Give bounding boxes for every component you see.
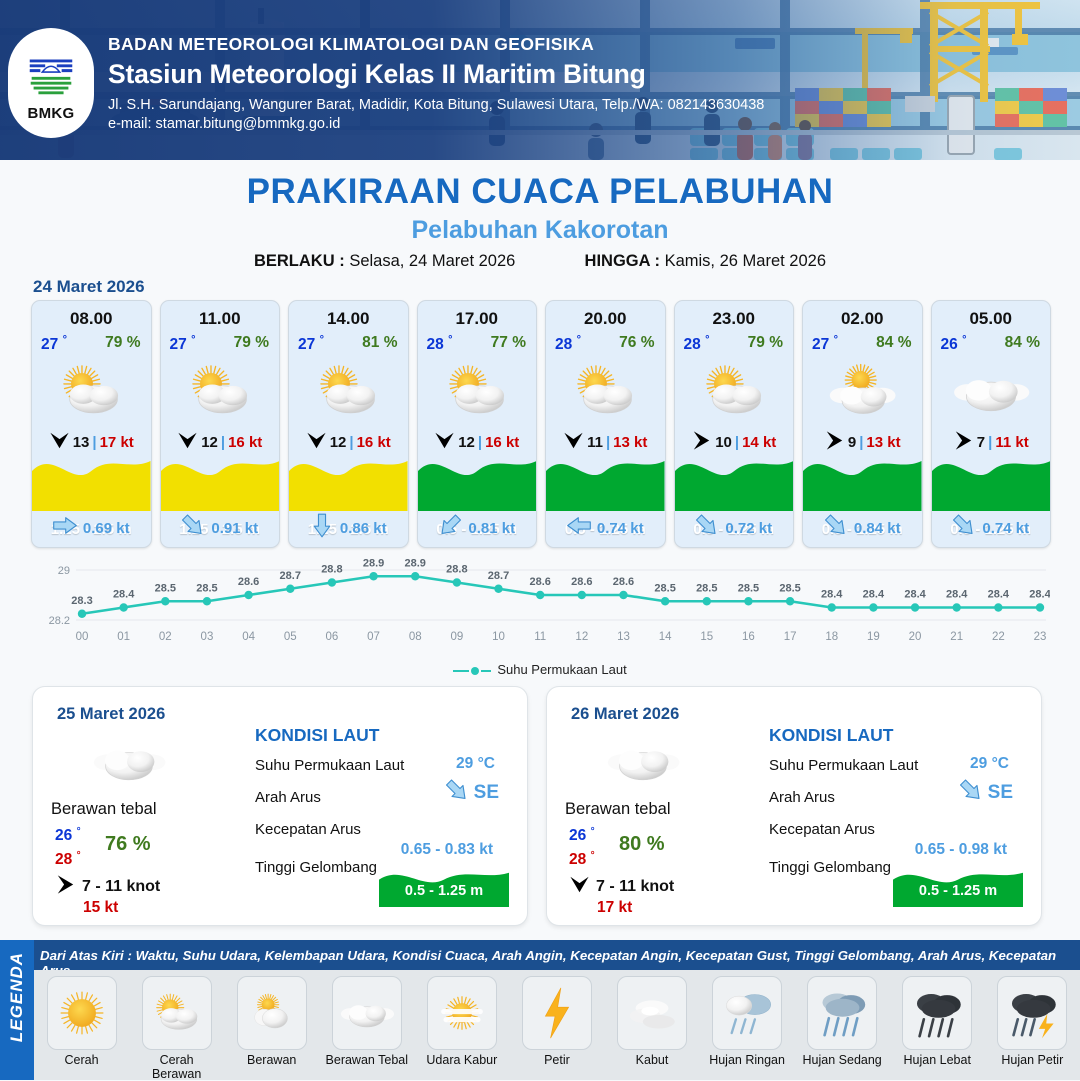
sea-conditions-title: KONDISI LAUT — [255, 725, 379, 746]
legend-item: Hujan Lebat — [895, 976, 979, 1067]
svg-text:28.4: 28.4 — [821, 589, 843, 601]
current-speed-label: Kecepatan Arus — [769, 821, 875, 838]
daily-temp-min: 26 ° — [55, 826, 81, 845]
legend-item-label: Hujan Petir — [990, 1053, 1074, 1067]
legend-rain-thunder-icon — [997, 976, 1067, 1050]
card-weather-sun-cloud-icon — [418, 359, 537, 423]
page-title: PRAKIRAAN CUACA PELABUHAN — [0, 172, 1080, 212]
card-humidity: 84 % — [876, 334, 911, 352]
card-wave-graphic — [161, 441, 280, 511]
card-weather-sun-clouds-icon — [803, 359, 922, 423]
svg-text:08: 08 — [409, 631, 422, 643]
current-direction-label: Arah Arus — [255, 789, 321, 806]
forecast-card: 02.00 27 ° 84 % 9 | 13 kt 0.5 - 1.25 m — [802, 300, 923, 548]
svg-text:28.6: 28.6 — [571, 576, 592, 588]
card-temperature: 26 ° — [941, 334, 967, 354]
valid-until-label: HINGGA : — [585, 252, 660, 270]
card-wave-graphic — [289, 441, 408, 511]
card-time: 23.00 — [675, 309, 794, 329]
svg-text:28.5: 28.5 — [654, 582, 675, 594]
current-direction-arrow-icon — [824, 516, 848, 540]
agency-name: BADAN METEOROLOGI KLIMATOLOGI DAN GEOFIS… — [108, 34, 764, 55]
card-time: 02.00 — [803, 309, 922, 329]
legend-item: Hujan Ringan — [705, 976, 789, 1067]
current-direction-value-row: SE — [959, 781, 1013, 805]
svg-text:04: 04 — [242, 631, 255, 643]
legend-section: LEGENDA Dari Atas Kiri : Waktu, Suhu Uda… — [0, 940, 1080, 1080]
daily-wave-value: 0.5 - 1.25 m — [379, 883, 509, 899]
card-time: 05.00 — [932, 309, 1051, 329]
card-weather-clouds-icon — [932, 359, 1051, 423]
card-humidity: 76 % — [619, 334, 654, 352]
svg-text:19: 19 — [867, 631, 880, 643]
svg-text:28.4: 28.4 — [1029, 589, 1050, 601]
svg-text:28.5: 28.5 — [738, 582, 759, 594]
sst-value: 29 °C — [970, 755, 1009, 773]
daily-gust: 15 kt — [83, 899, 118, 917]
legend-items-row: Cerah Cerah Berawan Berawan — [34, 972, 1080, 1080]
valid-from-label: BERLAKU : — [254, 252, 345, 270]
legend-item-label: Hujan Lebat — [895, 1053, 979, 1067]
legend-item: Hujan Petir — [990, 976, 1074, 1067]
legend-line-left — [453, 670, 469, 672]
forecast-card: 05.00 26 ° 84 % 7 | 11 kt 0.5 - 1.25 m — [931, 300, 1052, 548]
valid-from-value: Selasa, 24 Maret 2026 — [349, 252, 515, 270]
valid-until-value: Kamis, 26 Maret 2026 — [665, 252, 826, 270]
card-current-speed: 0.69 kt — [83, 520, 130, 537]
sst-chart: 2928.228.30028.40128.50228.50328.60428.7… — [30, 558, 1050, 678]
forecast-card: 23.00 28 ° 79 % 10 | 14 kt 0.5 - 1.25 m — [674, 300, 795, 548]
card-current-row: 0.91 kt — [161, 513, 280, 543]
hourly-forecast-row: 08.00 27 ° 79 % 13 | 17 kt 1.25 - 2.5 m — [31, 300, 1051, 548]
svg-text:28.8: 28.8 — [321, 564, 342, 576]
current-direction-arrow-icon — [53, 516, 77, 540]
card-humidity: 79 % — [234, 334, 269, 352]
card-temperature: 28 ° — [555, 334, 581, 354]
svg-text:28.4: 28.4 — [904, 589, 926, 601]
daily-temp-max: 28 ° — [55, 850, 81, 869]
daily-humidity: 80 % — [619, 833, 665, 856]
card-humidity: 84 % — [1005, 334, 1040, 352]
legend-item: Udara Kabur — [420, 976, 504, 1067]
card-time: 20.00 — [546, 309, 665, 329]
current-direction-arrow-icon — [438, 516, 462, 540]
station-address: Jl. S.H. Sarundajang, Wangurer Barat, Ma… — [108, 97, 764, 113]
current-direction-label: Arah Arus — [769, 789, 835, 806]
daily-wind-direction-arrow-icon — [55, 875, 76, 899]
page-header: BMKG BADAN METEOROLOGI KLIMATOLOGI DAN G… — [0, 0, 1080, 160]
card-weather-sun-cloud-icon — [675, 359, 794, 423]
card-humidity: 77 % — [491, 334, 526, 352]
station-email: e-mail: stamar.bitung@bmmkg.go.id — [108, 116, 764, 132]
legend-item: Cerah Berawan — [135, 976, 219, 1081]
card-current-speed: 0.74 kt — [597, 520, 644, 537]
daily-wind-direction-arrow-icon — [569, 875, 590, 899]
daily-date: 25 Maret 2026 — [57, 705, 165, 724]
legend-item-label: Berawan — [230, 1053, 314, 1067]
svg-text:28.5: 28.5 — [196, 582, 217, 594]
sst-value: 29 °C — [456, 755, 495, 773]
card-wave-graphic — [803, 441, 922, 511]
legend-rain-heavy-icon — [902, 976, 972, 1050]
svg-text:17: 17 — [784, 631, 797, 643]
current-direction-value: SE — [474, 782, 499, 804]
svg-text:28.6: 28.6 — [613, 576, 634, 588]
svg-text:29: 29 — [58, 565, 70, 577]
card-wave-graphic — [932, 441, 1051, 511]
daily-weather-cloud-icon — [87, 735, 171, 787]
bmkg-logo-text: BMKG — [27, 105, 74, 122]
card-time: 14.00 — [289, 309, 408, 329]
card-current-speed: 0.84 kt — [854, 520, 901, 537]
daily-forecast-panel-26: 26 Maret 2026 Berawan tebal 26 ° 28 ° 80… — [546, 686, 1042, 926]
legend-haze-icon — [427, 976, 497, 1050]
forecast-date-label: 24 Maret 2026 — [33, 277, 145, 297]
current-speed-value: 0.65 - 0.83 kt — [401, 841, 493, 859]
card-current-speed: 0.86 kt — [340, 520, 387, 537]
header-text-block: BADAN METEOROLOGI KLIMATOLOGI DAN GEOFIS… — [108, 34, 764, 132]
card-temperature: 27 ° — [298, 334, 324, 354]
card-time: 11.00 — [161, 309, 280, 329]
sst-label: Suhu Permukaan Laut — [255, 757, 404, 774]
page-subtitle: Pelabuhan Kakorotan — [0, 216, 1080, 245]
legend-marker — [471, 667, 479, 675]
bmkg-logo-icon — [22, 45, 80, 103]
forecast-card: 20.00 28 ° 76 % 11 | 13 kt 0.5 - 1.25 m — [545, 300, 666, 548]
legend-side-label: LEGENDA — [7, 947, 27, 1047]
svg-text:28.6: 28.6 — [529, 576, 550, 588]
current-direction-value-row: SE — [445, 781, 499, 805]
card-wave-graphic — [32, 441, 151, 511]
svg-text:28.3: 28.3 — [71, 595, 92, 607]
svg-text:05: 05 — [284, 631, 297, 643]
svg-text:28.5: 28.5 — [155, 582, 176, 594]
wave-height-label: Tinggi Gelombang — [769, 859, 891, 876]
card-temperature: 28 ° — [427, 334, 453, 354]
card-temperature: 27 ° — [41, 334, 67, 354]
forecast-card: 14.00 27 ° 81 % 12 | 16 kt 1.25 - 2.5 m — [288, 300, 409, 548]
svg-text:28.4: 28.4 — [113, 589, 135, 601]
legend-rain-light-icon — [712, 976, 782, 1050]
card-weather-sun-cloud-icon — [289, 359, 408, 423]
legend-item-label: Hujan Sedang — [800, 1053, 884, 1067]
daily-forecast-panel-25: 25 Maret 2026 Berawan tebal 26 ° 28 ° 76… — [32, 686, 528, 926]
daily-wind-row: 7 - 11 knot — [55, 875, 160, 899]
card-weather-sun-cloud-icon — [32, 359, 151, 423]
daily-condition: Berawan tebal — [51, 800, 157, 819]
daily-current-arrow-icon — [445, 781, 469, 805]
sst-label: Suhu Permukaan Laut — [769, 757, 918, 774]
current-direction-arrow-icon — [952, 516, 976, 540]
legend-sun-cloud-icon — [142, 976, 212, 1050]
svg-text:28.6: 28.6 — [238, 576, 259, 588]
svg-text:14: 14 — [659, 631, 672, 643]
svg-text:28.7: 28.7 — [280, 570, 301, 582]
legend-item-label: Cerah — [40, 1053, 124, 1067]
sea-conditions-title: KONDISI LAUT — [769, 725, 893, 746]
legend-item: Berawan Tebal — [325, 976, 409, 1067]
wave-height-label: Tinggi Gelombang — [255, 859, 377, 876]
legend-line-right — [481, 670, 491, 672]
card-current-row: 0.74 kt — [546, 513, 665, 543]
legend-fog-icon — [617, 976, 687, 1050]
daily-wind-range: 7 - 11 knot — [596, 878, 674, 896]
svg-text:23: 23 — [1034, 631, 1047, 643]
legend-item-label: Berawan Tebal — [325, 1053, 409, 1067]
current-direction-value: SE — [988, 782, 1013, 804]
card-humidity: 79 % — [748, 334, 783, 352]
svg-text:28.5: 28.5 — [696, 582, 717, 594]
svg-text:13: 13 — [617, 631, 630, 643]
svg-text:21: 21 — [950, 631, 963, 643]
card-temperature: 28 ° — [684, 334, 710, 354]
svg-text:12: 12 — [575, 631, 588, 643]
current-direction-arrow-icon — [181, 516, 205, 540]
card-temperature: 27 ° — [812, 334, 838, 354]
station-name: Stasiun Meteorologi Kelas II Maritim Bit… — [108, 59, 764, 90]
legend-bolt-icon — [522, 976, 592, 1050]
current-direction-arrow-icon — [567, 516, 591, 540]
card-time: 08.00 — [32, 309, 151, 329]
legend-label: Suhu Permukaan Laut — [497, 662, 626, 677]
svg-text:28.4: 28.4 — [863, 589, 885, 601]
card-current-row: 0.81 kt — [418, 513, 537, 543]
svg-text:06: 06 — [326, 631, 339, 643]
card-current-row: 0.69 kt — [32, 513, 151, 543]
svg-text:03: 03 — [201, 631, 214, 643]
card-current-row: 0.72 kt — [675, 513, 794, 543]
legend-sun-cloud-small-icon — [237, 976, 307, 1050]
legend-item-label: Hujan Ringan — [705, 1053, 789, 1067]
current-direction-arrow-icon — [695, 516, 719, 540]
daily-weather-cloud-icon — [601, 735, 685, 787]
daily-wind-row: 7 - 11 knot — [569, 875, 674, 899]
daily-current-arrow-icon — [959, 781, 983, 805]
svg-text:28.9: 28.9 — [363, 558, 384, 569]
card-current-speed: 0.72 kt — [725, 520, 772, 537]
validity-row: BERLAKU : Selasa, 24 Maret 2026 HINGGA :… — [0, 252, 1080, 271]
legend-item-label: Cerah Berawan — [135, 1053, 219, 1081]
svg-text:01: 01 — [117, 631, 130, 643]
svg-text:28.5: 28.5 — [779, 582, 800, 594]
legend-item: Hujan Sedang — [800, 976, 884, 1067]
svg-text:00: 00 — [76, 631, 89, 643]
legend-side-strip: LEGENDA — [0, 940, 34, 1080]
forecast-card: 17.00 28 ° 77 % 12 | 16 kt 0.5 - 1.25 m — [417, 300, 538, 548]
card-current-row: 0.86 kt — [289, 513, 408, 543]
current-speed-label: Kecepatan Arus — [255, 821, 361, 838]
svg-text:28.8: 28.8 — [446, 564, 467, 576]
svg-text:16: 16 — [742, 631, 755, 643]
svg-text:28.7: 28.7 — [488, 570, 509, 582]
legend-item-label: Petir — [515, 1053, 599, 1067]
daily-temp-min: 26 ° — [569, 826, 595, 845]
svg-text:28.2: 28.2 — [49, 615, 70, 627]
current-direction-arrow-icon — [310, 516, 334, 540]
legend-rain-medium-icon — [807, 976, 877, 1050]
card-temperature: 27 ° — [170, 334, 196, 354]
legend-item: Berawan — [230, 976, 314, 1067]
svg-text:10: 10 — [492, 631, 505, 643]
daily-date: 26 Maret 2026 — [571, 705, 679, 724]
bmkg-logo: BMKG — [8, 28, 94, 138]
svg-text:20: 20 — [909, 631, 922, 643]
legend-item: Kabut — [610, 976, 694, 1067]
card-current-speed: 0.81 kt — [468, 520, 515, 537]
daily-condition: Berawan tebal — [565, 800, 671, 819]
svg-text:28.9: 28.9 — [405, 558, 426, 569]
card-humidity: 79 % — [105, 334, 140, 352]
svg-text:11: 11 — [534, 631, 546, 643]
card-current-row: 0.74 kt — [932, 513, 1051, 543]
svg-text:02: 02 — [159, 631, 172, 643]
svg-text:28.4: 28.4 — [946, 589, 968, 601]
card-wave-graphic — [546, 441, 665, 511]
svg-text:22: 22 — [992, 631, 1005, 643]
card-current-speed: 0.91 kt — [211, 520, 258, 537]
daily-wave-value: 0.5 - 1.25 m — [893, 883, 1023, 899]
daily-wind-range: 7 - 11 knot — [82, 878, 160, 896]
svg-text:15: 15 — [700, 631, 713, 643]
card-humidity: 81 % — [362, 334, 397, 352]
daily-temp-max: 28 ° — [569, 850, 595, 869]
legend-sun-icon — [47, 976, 117, 1050]
card-time: 17.00 — [418, 309, 537, 329]
chart-legend: Suhu Permukaan Laut — [0, 662, 1080, 677]
legend-item: Cerah — [40, 976, 124, 1067]
card-wave-graphic — [675, 441, 794, 511]
card-current-row: 0.84 kt — [803, 513, 922, 543]
svg-text:18: 18 — [825, 631, 838, 643]
forecast-card: 08.00 27 ° 79 % 13 | 17 kt 1.25 - 2.5 m — [31, 300, 152, 548]
legend-item-label: Udara Kabur — [420, 1053, 504, 1067]
forecast-card: 11.00 27 ° 79 % 12 | 16 kt 1.25 - 2.5 m — [160, 300, 281, 548]
svg-text:28.4: 28.4 — [988, 589, 1010, 601]
card-current-speed: 0.74 kt — [982, 520, 1029, 537]
daily-humidity: 76 % — [105, 833, 151, 856]
current-speed-value: 0.65 - 0.98 kt — [915, 841, 1007, 859]
card-weather-sun-cloud-icon — [546, 359, 665, 423]
card-wave-graphic — [418, 441, 537, 511]
svg-text:07: 07 — [367, 631, 380, 643]
daily-gust: 17 kt — [597, 899, 632, 917]
legend-item: Petir — [515, 976, 599, 1067]
legend-item-label: Kabut — [610, 1053, 694, 1067]
legend-cloud-icon — [332, 976, 402, 1050]
card-weather-sun-cloud-icon — [161, 359, 280, 423]
svg-text:09: 09 — [450, 631, 463, 643]
